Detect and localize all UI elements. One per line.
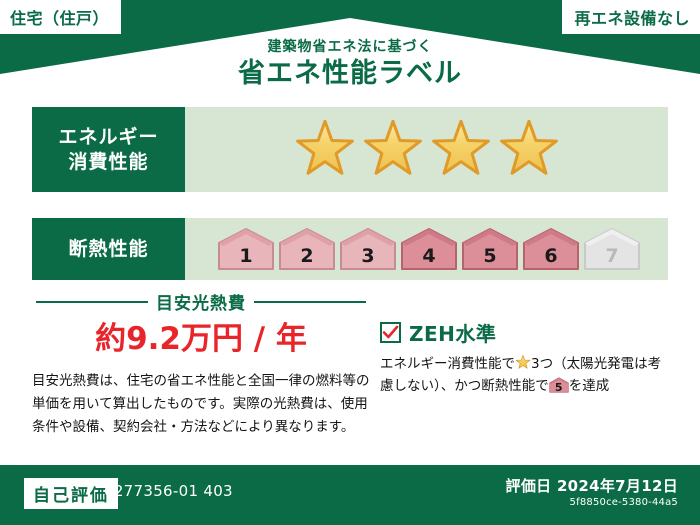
zeh-title: ZEH水準 [409,318,496,347]
insulation-grade-7: 7 [583,227,641,271]
estimated-cost-value: 約9.2万円 / 年 [36,313,366,358]
zeh-heading: ZEH水準 [380,318,670,347]
energy-label-line1: エネルギー [58,125,158,150]
label-footer: 自己評価 0277356-01 403 評価日 2024年7月12日 5f885… [0,465,700,525]
insulation-grade-2: 2 [278,227,336,271]
estimated-cost-heading-text: 目安光熱費 [156,289,246,314]
insulation-grade-1: 1 [217,227,275,271]
zeh-description: エネルギー消費性能で3つ（太陽光発電は考慮しない）、かつ断熱性能で5を達成 [380,353,670,398]
energy-performance-label: エネルギー 消費性能 [32,107,185,192]
star-icon [498,120,560,180]
energy-performance-row: エネルギー 消費性能 [32,107,668,192]
energy-label-line2: 消費性能 [68,150,148,175]
evaluation-date: 評価日 2024年7月12日 [506,475,678,496]
badge-renewable-energy: 再エネ設備なし [562,0,700,34]
insulation-grade-3: 3 [339,227,397,271]
zeh-checkbox [380,322,401,343]
insulation-grade-number: 2 [278,245,336,267]
star-icon [294,120,356,180]
estimated-cost-heading: 目安光熱費 [36,289,366,314]
heading-rule-right [254,301,366,303]
zeh-desc-part1: エネルギー消費性能で [380,356,515,372]
badge-building-type: 住宅（住戸） [0,0,121,34]
insulation-grade-number: 4 [400,245,458,267]
house-icon-inline-number: 5 [549,382,569,393]
energy-performance-label: 住宅（住戸） 再エネ設備なし 建築物省エネ法に基づく 省エネ性能ラベル エネルギ… [0,0,700,525]
self-evaluation-id: 0277356-01 403 [104,482,233,500]
insulation-grade-6: 6 [522,227,580,271]
insulation-grade-number: 7 [583,245,641,267]
star-icon [430,120,492,180]
star-rating-panel [185,107,668,192]
zeh-desc-part3: を達成 [569,378,610,394]
title-main: 省エネ性能ラベル [0,57,700,91]
insulation-grade-panel: 1234567 [185,218,668,280]
insulation-grade-number: 3 [339,245,397,267]
label-title-block: 建築物省エネ法に基づく 省エネ性能ラベル [0,40,700,91]
insulation-label-text: 断熱性能 [68,237,148,262]
insulation-grade-5: 5 [461,227,519,271]
zeh-standard-block: ZEH水準 エネルギー消費性能で3つ（太陽光発電は考慮しない）、かつ断熱性能で5… [380,318,670,398]
insulation-performance-label: 断熱性能 [32,218,185,280]
star-icon [362,120,424,180]
star-icon-inline [515,355,531,370]
insulation-grade-4: 4 [400,227,458,271]
insulation-performance-row: 断熱性能 1234567 [32,218,668,280]
zeh-desc-star-count: 3つ（太陽光発電 [531,356,634,372]
estimated-cost-note: 目安光熱費は、住宅の省エネ性能と全国一律の燃料等の単価を用いて算出したものです。… [32,370,378,440]
insulation-grade-number: 6 [522,245,580,267]
title-subtitle: 建築物省エネ法に基づく [0,40,700,55]
heading-rule-left [36,301,148,303]
house-icon-inline: 5 [549,377,569,393]
insulation-grade-number: 1 [217,245,275,267]
insulation-grade-number: 5 [461,245,519,267]
evaluation-uuid: 5f8850ce-5380-44a5 [570,497,678,508]
